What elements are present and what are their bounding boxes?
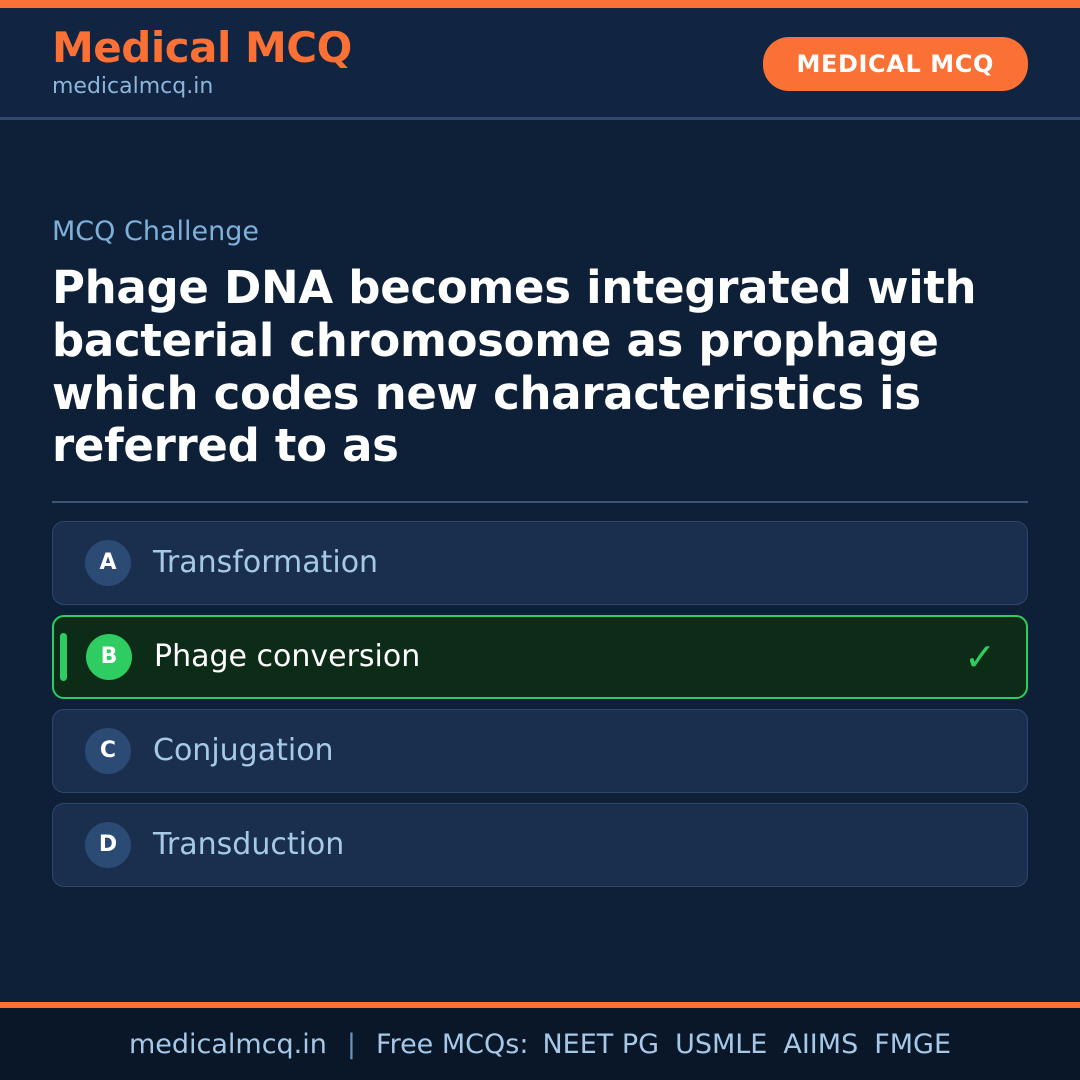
option-label: Conjugation: [153, 733, 334, 769]
header-badge: MEDICAL MCQ: [763, 37, 1028, 91]
option-label: Phage conversion: [154, 639, 420, 675]
section-divider: [52, 501, 1028, 503]
option-badge: B: [86, 634, 132, 680]
option-badge: D: [85, 822, 131, 868]
selected-accent-bar: [60, 633, 67, 681]
footer-content: medicalmcq.in | Free MCQs: NEET PG USMLE…: [129, 1029, 951, 1060]
option-row-c[interactable]: C Conjugation ✓: [52, 709, 1028, 793]
page-header: Medical MCQ medicalmcq.in MEDICAL MCQ: [0, 8, 1080, 120]
option-label: Transformation: [153, 545, 378, 581]
footer-exam-usmle: USMLE: [675, 1029, 767, 1060]
brand-title: Medical MCQ: [52, 26, 352, 70]
brand: Medical MCQ medicalmcq.in: [52, 26, 352, 102]
footer-prefix: Free MCQs:: [376, 1029, 528, 1060]
mcq-card: Medical MCQ medicalmcq.in MEDICAL MCQ MC…: [0, 0, 1080, 1080]
eyebrow-label: MCQ Challenge: [52, 216, 1028, 248]
main-content: MCQ Challenge Phage DNA becomes integrat…: [0, 120, 1080, 1002]
option-badge: C: [85, 728, 131, 774]
option-badge: A: [85, 540, 131, 586]
top-accent-bar: [0, 0, 1080, 8]
option-row-a[interactable]: A Transformation ✓: [52, 521, 1028, 605]
footer-exam-aiims: AIIMS: [783, 1029, 858, 1060]
footer-exam-neetpg: NEET PG: [542, 1029, 659, 1060]
brand-subtitle: medicalmcq.in: [52, 73, 352, 102]
options-list: A Transformation ✓ B Phage conversion ✓ …: [52, 521, 1028, 887]
footer-separator: |: [341, 1029, 362, 1060]
option-row-b[interactable]: B Phage conversion ✓: [52, 615, 1028, 699]
footer-exam-fmge: FMGE: [874, 1029, 951, 1060]
page-footer: medicalmcq.in | Free MCQs: NEET PG USMLE…: [0, 1002, 1080, 1080]
question-text: Phage DNA becomes integrated with bacter…: [52, 262, 992, 473]
footer-exam-list: NEET PG USMLE AIIMS FMGE: [542, 1029, 951, 1060]
option-row-d[interactable]: D Transduction ✓: [52, 803, 1028, 887]
footer-site: medicalmcq.in: [129, 1029, 327, 1060]
check-icon: ✓: [964, 638, 1000, 676]
option-label: Transduction: [153, 827, 344, 863]
